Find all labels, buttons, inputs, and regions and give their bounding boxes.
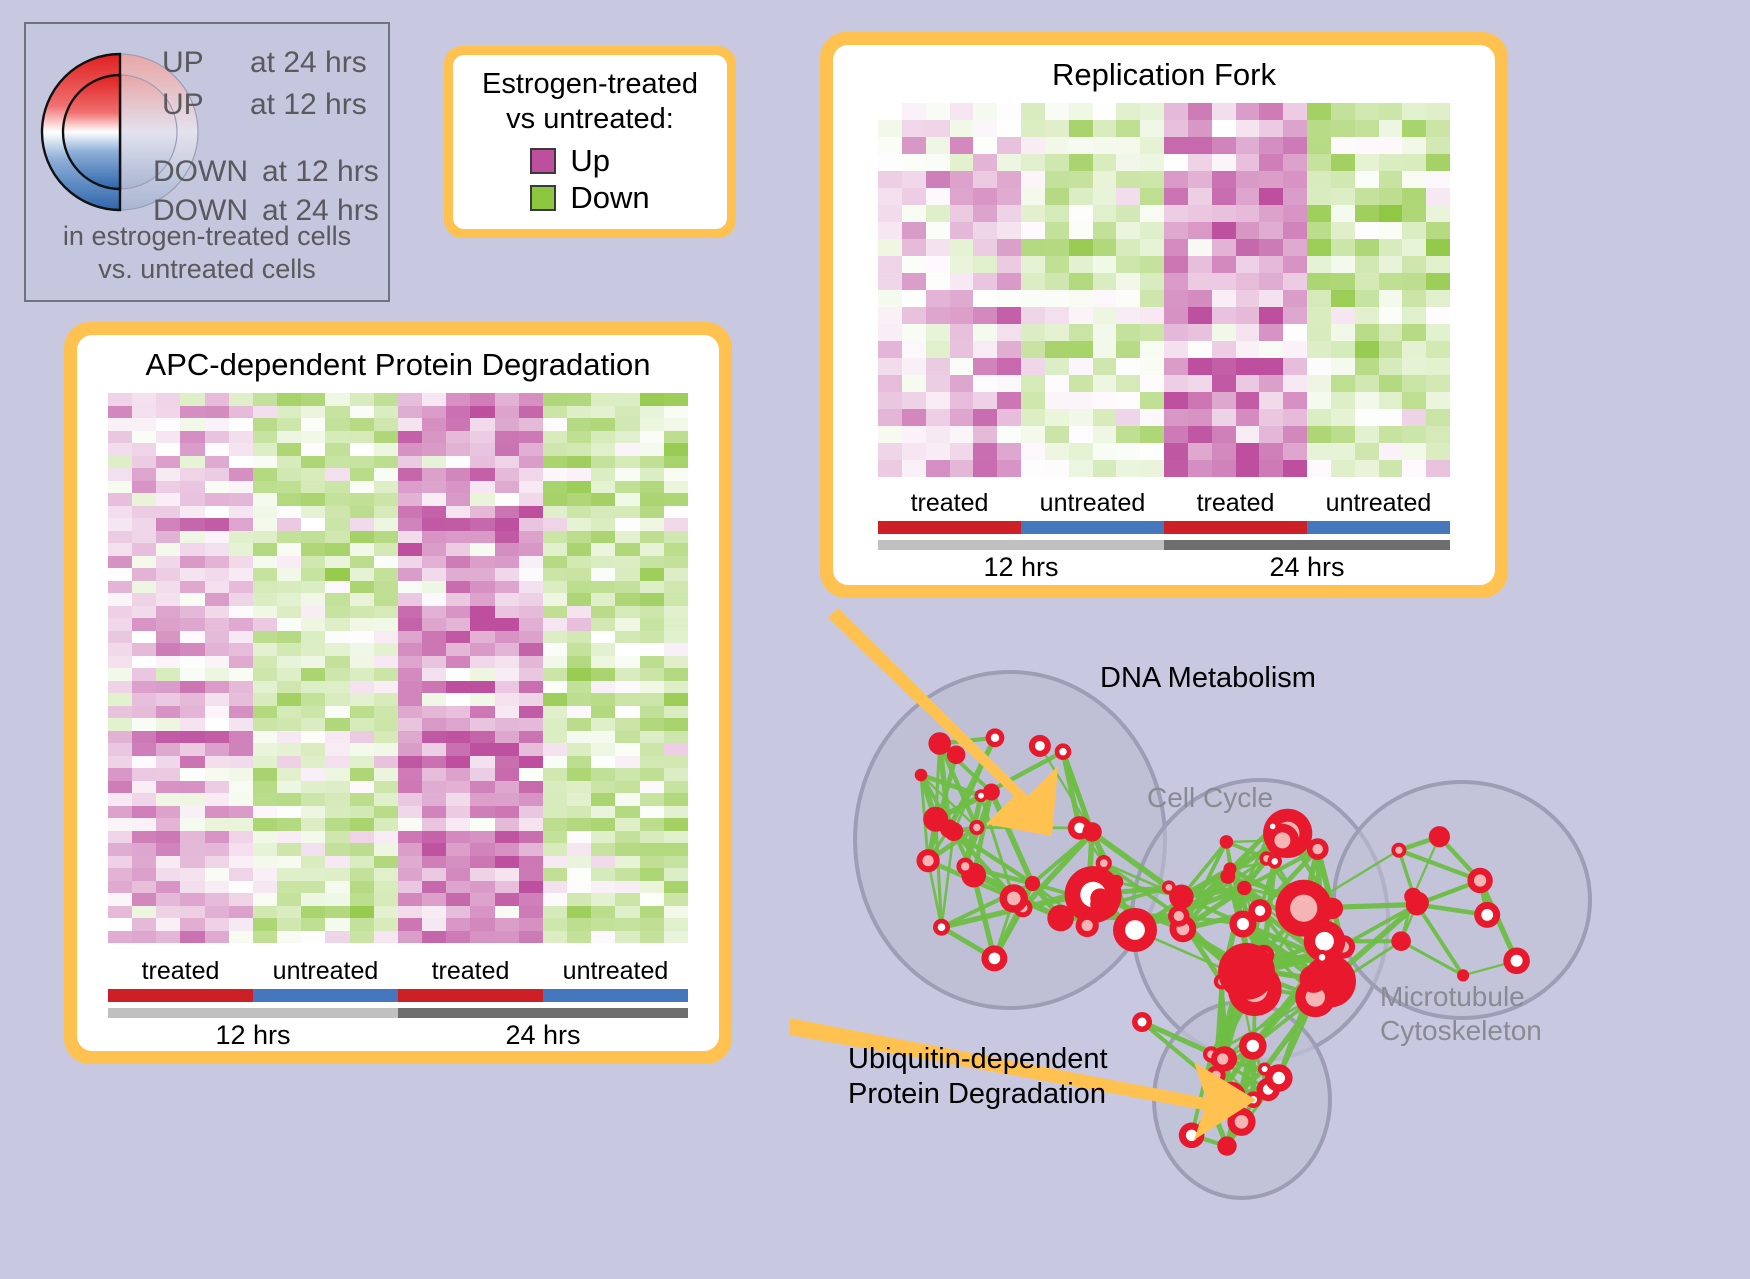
legend-label-down: Down — [570, 180, 649, 216]
network-node — [915, 769, 928, 782]
axis-apc: treateduntreatedtreateduntreated 12 hrs2… — [108, 957, 688, 1051]
condition-color-bar — [108, 989, 688, 1002]
legend-title-line2: vs untreated: — [482, 102, 698, 137]
legend-item-up: Up — [530, 143, 649, 179]
legend-item-down: Down — [530, 180, 649, 216]
panel-apc-degradation: APC-dependent Protein Degradation treate… — [64, 322, 732, 1064]
legend-label-up: Up — [570, 143, 610, 179]
panel-title-apc: APC-dependent Protein Degradation — [146, 347, 651, 383]
condition-bar-segment — [253, 989, 398, 1002]
key-footer: in estrogen-treated cells vs. untreated … — [26, 220, 388, 286]
condition-labels: treateduntreatedtreateduntreated — [878, 489, 1450, 518]
network-node — [1391, 931, 1411, 951]
timepoint-label: 24 hrs — [398, 1020, 688, 1051]
network-node — [1300, 965, 1328, 993]
condition-label: untreated — [253, 957, 398, 986]
network-node — [1224, 862, 1237, 875]
updown-legend-card: Estrogen-treated vs untreated: Up Down — [444, 46, 736, 238]
timepoint-color-bar — [878, 540, 1450, 550]
condition-color-bar — [878, 521, 1450, 534]
timepoint-labels: 12 hrs24 hrs — [108, 1020, 688, 1051]
network-node — [928, 732, 951, 755]
condition-bar-segment — [108, 989, 253, 1002]
key-footer-line2: vs. untreated cells — [26, 253, 388, 286]
condition-label: untreated — [1307, 489, 1450, 518]
network-node — [944, 822, 963, 841]
cluster-label-microtubule: Microtubule Cytoskeleton — [1380, 980, 1542, 1048]
key-word-down-12: DOWN — [153, 155, 248, 189]
key-word-up-24: UP — [162, 46, 204, 80]
network-node — [1217, 1136, 1236, 1155]
network-node — [1220, 835, 1234, 849]
key-word-up-12: UP — [162, 88, 204, 122]
panel-replication-fork: Replication Fork treateduntreatedtreated… — [820, 32, 1508, 598]
network-node — [1404, 888, 1422, 906]
condition-bar-segment — [398, 989, 543, 1002]
condition-label: treated — [1164, 489, 1307, 518]
heatmap-replication-fork — [878, 103, 1450, 477]
condition-bar-segment — [1307, 521, 1450, 534]
network-node — [1082, 822, 1101, 841]
timepoint-bar-segment — [108, 1008, 398, 1018]
timepoint-label: 12 hrs — [108, 1020, 398, 1051]
condition-bar-segment — [1164, 521, 1307, 534]
network-node — [1322, 898, 1343, 919]
condition-label: untreated — [543, 957, 688, 986]
condition-label: treated — [108, 957, 253, 986]
up-swatch — [530, 148, 556, 174]
panel-title-replication-fork: Replication Fork — [1052, 57, 1276, 93]
condition-bar-segment — [878, 521, 1021, 534]
condition-labels: treateduntreatedtreateduntreated — [108, 957, 688, 986]
key-footer-line1: in estrogen-treated cells — [26, 220, 388, 253]
cluster-label-cell-cycle: Cell Cycle — [1147, 782, 1273, 814]
down-swatch — [530, 185, 556, 211]
network-node — [1090, 890, 1119, 919]
timepoint-labels: 12 hrs24 hrs — [878, 552, 1450, 583]
cluster-label-ubiquitin: Ubiquitin-dependent Protein Degradation — [848, 1042, 1108, 1113]
timepoint-color-bar — [108, 1008, 688, 1018]
network-node — [1047, 905, 1074, 932]
cluster-label-dna-metabolism: DNA Metabolism — [1100, 662, 1316, 695]
network-node — [1238, 957, 1263, 982]
condition-bar-segment — [1021, 521, 1164, 534]
axis-replication-fork: treateduntreatedtreateduntreated 12 hrs2… — [878, 489, 1450, 583]
condition-label: untreated — [1021, 489, 1164, 518]
key-time-up-12: at 12 hrs — [250, 88, 367, 122]
timepoint-bar-segment — [1164, 540, 1450, 550]
key-time-down-12: at 12 hrs — [262, 155, 379, 189]
legend-title-line1: Estrogen-treated — [482, 67, 698, 102]
key-time-up-24: at 24 hrs — [250, 46, 367, 80]
network-node — [1237, 881, 1252, 896]
timepoint-label: 24 hrs — [1164, 552, 1450, 583]
network-node — [1109, 875, 1124, 890]
legend-title: Estrogen-treated vs untreated: — [482, 67, 698, 137]
condition-label: treated — [398, 957, 543, 986]
condition-label: treated — [878, 489, 1021, 518]
timepoint-label: 12 hrs — [878, 552, 1164, 583]
network-node — [1429, 826, 1450, 847]
timepoint-bar-segment — [398, 1008, 688, 1018]
expression-key-box: UP at 24 hrs UP at 12 hrs DOWN at 12 hrs… — [24, 22, 390, 302]
pathway-network-graph — [790, 600, 1750, 1279]
network-node — [1025, 876, 1040, 891]
timepoint-bar-segment — [878, 540, 1164, 550]
heatmap-apc-degradation — [108, 393, 688, 943]
condition-bar-segment — [543, 989, 688, 1002]
